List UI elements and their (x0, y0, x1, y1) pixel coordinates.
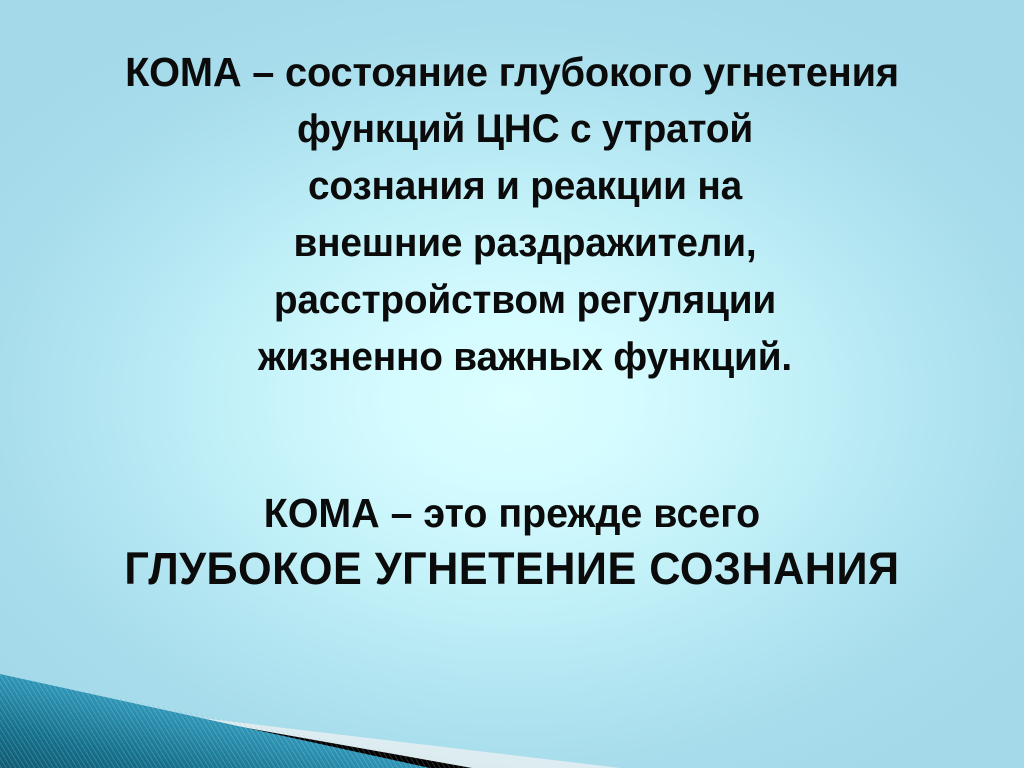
emphasis-paragraph: КОМА – это прежде всего ГЛУБОКОЕ УГНЕТЕН… (0, 487, 1024, 597)
definition-line-3: сознания и реакции на (28, 158, 1021, 215)
emphasis-line-2: ГЛУБОКОЕ УГНЕТЕНИЕ СОЗНАНИЯ (20, 540, 1003, 597)
definition-line-5: расстройством регуляции (28, 272, 1021, 329)
definition-line-2: функций ЦНС с утратой (28, 101, 1021, 158)
definition-line-6: жизненно важных функций. (28, 329, 1021, 386)
definition-line-1: КОМА – состояние глубокого угнетения (15, 44, 1008, 101)
slide-content: КОМА – состояние глубокого угнетения фун… (0, 0, 1024, 768)
definition-line-4: внешние раздражители, (28, 215, 1021, 272)
emphasis-line-1: КОМА – это прежде всего (20, 487, 1003, 540)
definition-paragraph: КОМА – состояние глубокого угнетения фун… (0, 44, 1024, 386)
slide-canvas: КОМА – состояние глубокого угнетения фун… (0, 0, 1024, 768)
